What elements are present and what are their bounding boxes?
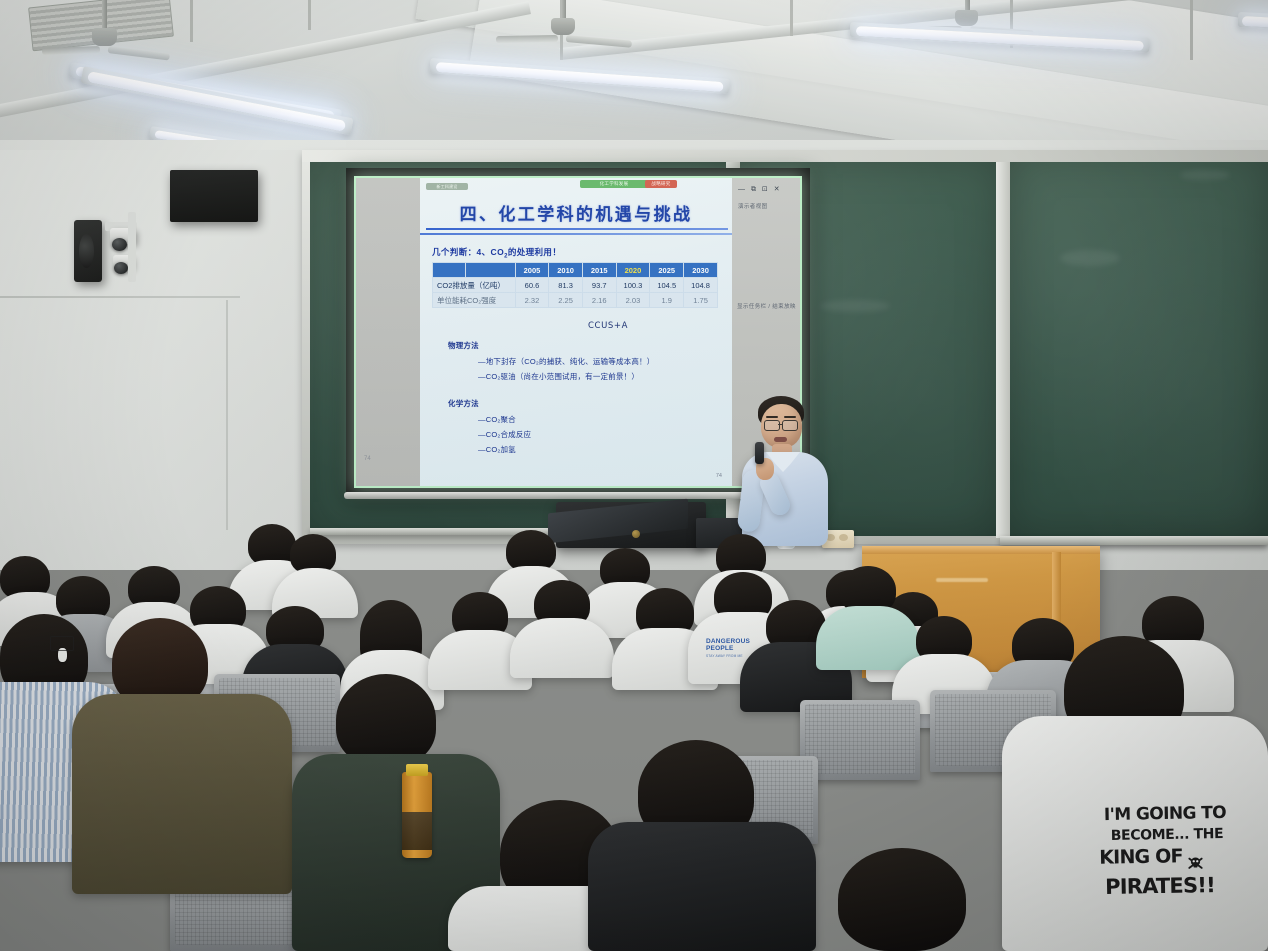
speaker-cone: [79, 234, 94, 269]
table-header-2030: 2030: [684, 263, 718, 278]
tshirt-pirate-line2: BECOME... THE: [1092, 827, 1242, 844]
tshirt-pirate-line4: PIRATES!!: [1080, 875, 1240, 899]
table-header-2025: 2025: [650, 263, 684, 278]
cell-intensity-2020: 2.03: [616, 293, 650, 308]
security-camera-lens-2: [114, 262, 128, 274]
chalk-smudge-2: [1180, 170, 1230, 180]
table-header-row: 2005 2010 2015 2020 2025 2030: [433, 263, 718, 278]
table-header-blank-1: [433, 263, 466, 278]
ccus-label: CCUS+A: [588, 321, 628, 331]
presenter-view-left-number: 74: [364, 456, 371, 462]
table-row-label-emissions: CO2排放量（亿吨）: [433, 278, 516, 293]
physical-methods-item-1: —地下封存（CO₂的捕获、纯化、运输等成本高！）: [478, 356, 654, 367]
presenter-view-left-panel: 74: [356, 178, 420, 486]
cell-intensity-2005: 2.32: [515, 293, 549, 308]
table-row: 单位能耗CO₂强度 2.32 2.25 2.16 2.03 1.9 1.75: [433, 293, 718, 308]
slide-subheading: 几个判断：4、CO2的处理利用！: [432, 246, 561, 260]
cell-emissions-2005: 60.6: [515, 278, 549, 293]
seat-mesh: [805, 704, 915, 774]
ceiling-fan-motor-right: [955, 10, 978, 26]
table-row-label-intensity: 单位能耗CO₂强度: [433, 293, 516, 308]
lecturer-glasses-bridge: [778, 424, 782, 425]
table-header-2010: 2010: [549, 263, 583, 278]
shoulders-olive-jacket: [72, 694, 292, 894]
slide-badge-left: 新工科建设: [426, 183, 468, 190]
chalk-tray: [1000, 536, 1268, 545]
wall-speaker: [74, 220, 102, 282]
chemical-methods-item-1: —CO₂聚合: [478, 414, 516, 425]
lecturer-brow-right: [784, 416, 796, 418]
wall-av-panel: [170, 170, 258, 222]
table-row: CO2排放量（亿吨） 60.6 81.3 93.7 100.3 104.5 10…: [433, 278, 718, 293]
ceiling-pipe-4: [790, 0, 793, 36]
ceiling-fan-blade-mid-2: [496, 35, 558, 43]
microphone[interactable]: [755, 442, 764, 464]
slide-canvas: 新工科建设 化工学科发展 战略研究 四、化工学科的机遇与挑战 几个判断：4、CO…: [420, 178, 732, 486]
ceiling-fan-rod-mid: [561, 0, 566, 20]
security-camera-lens: [112, 238, 127, 251]
chalk-smudge-1: [1060, 250, 1120, 266]
hair: [336, 674, 436, 766]
juice-bottle-label: [402, 812, 432, 850]
cell-emissions-2030: 104.8: [684, 278, 718, 293]
wall-seam-1: [226, 300, 228, 530]
presenter-view-bottom-label[interactable]: 显示任务栏 / 结束放映: [737, 302, 796, 310]
chemical-methods-heading: 化学方法: [448, 398, 479, 409]
co2-emissions-table: 2005 2010 2015 2020 2025 2030 CO2排放量（亿吨）…: [432, 262, 718, 308]
blackboard-top-rail: [302, 150, 1268, 162]
presenter-view-top-label: 演示者视图: [738, 202, 768, 210]
ceiling-pipe-6: [1190, 0, 1193, 60]
cell-emissions-2020: 100.3: [616, 278, 650, 293]
ceiling-pipe-1: [190, 0, 193, 42]
lecturer-glasses-right: [782, 420, 798, 431]
ceiling-pipe-2: [308, 0, 311, 30]
lecturer-glasses-left: [764, 420, 780, 431]
slide-title: 四、化工学科的机遇与挑战: [420, 200, 732, 225]
tshirt-pirate-line1: I'M GOING TO: [1090, 805, 1240, 825]
cell-intensity-2010: 2.25: [549, 293, 583, 308]
seat[interactable]: [800, 700, 920, 780]
lectern-scratch: [936, 578, 988, 582]
lecturer-brow-left: [766, 416, 778, 418]
table-header-2015: 2015: [582, 263, 616, 278]
tshirt-dangerous-line2: PEOPLE: [706, 645, 750, 652]
cell-emissions-2015: 93.7: [582, 278, 616, 293]
ceiling-fan-motor-left: [92, 28, 117, 46]
cell-intensity-2015: 2.16: [582, 293, 616, 308]
slide-rule-top: [426, 228, 728, 230]
shoulders: [510, 618, 614, 678]
table-header-2020: 2020: [616, 263, 650, 278]
cell-emissions-2010: 81.3: [549, 278, 583, 293]
table-header-blank-2: [465, 263, 515, 278]
blackboard-panel-right: [1008, 152, 1268, 536]
glasses: [50, 636, 74, 651]
tshirt-dangerous-line1: DANGEROUS: [706, 638, 750, 645]
chemical-methods-item-2: —CO₂合成反应: [478, 429, 531, 440]
cell-emissions-2025: 104.5: [650, 278, 684, 293]
cell-intensity-2025: 1.9: [650, 293, 684, 308]
lecture-hall-photo: 74 — ⧉ ⊡ ✕ 演示者视图 显示任务栏 / 结束放映 新工科建设 化工学科…: [0, 0, 1268, 951]
cell-intensity-2030: 1.75: [684, 293, 718, 308]
wall-seam-2: [0, 296, 240, 298]
blackboard-divider-2: [996, 150, 1010, 538]
lecturer: [726, 396, 846, 546]
lecturer-mouth: [774, 437, 787, 442]
hair: [838, 848, 966, 951]
shoulders: [816, 606, 920, 670]
tshirt-dangerous-text: DANGEROUS PEOPLE STAY AWAY FROM ME: [706, 638, 750, 659]
subhead-suffix: 的处理利用！: [508, 247, 561, 257]
camera-bracket: [128, 212, 136, 282]
slide-badge-red: 战略研究: [645, 180, 677, 188]
skull-and-crossbones-icon: [1186, 854, 1205, 871]
chalk-smudge-3: [820, 300, 890, 312]
shoulders: [588, 822, 816, 951]
window-controls[interactable]: — ⧉ ⊡ ✕: [738, 185, 782, 194]
juice-bottle-cap: [406, 764, 428, 776]
table-header-2005: 2005: [515, 263, 549, 278]
slide-badge-green: 化工学科发展: [580, 180, 648, 188]
physical-methods-heading: 物理方法: [448, 340, 479, 351]
lectern-top-edge: [862, 546, 1100, 554]
ceiling-fan-rod-left: [102, 0, 107, 30]
av-console-knob[interactable]: [632, 530, 640, 538]
slide-rule-bottom: [420, 233, 732, 235]
physical-methods-item-2: —CO₂驱油（尚在小范围试用，有一定前景！）: [478, 371, 639, 382]
slide-page-number: 74: [716, 473, 722, 479]
subhead-prefix: 几个判断：4、CO: [432, 247, 504, 257]
chemical-methods-item-3: —CO₂加氢: [478, 444, 516, 455]
ceiling-fan-motor-mid: [551, 18, 575, 35]
tshirt-dangerous-sub: STAY AWAY FROM ME: [706, 655, 750, 659]
